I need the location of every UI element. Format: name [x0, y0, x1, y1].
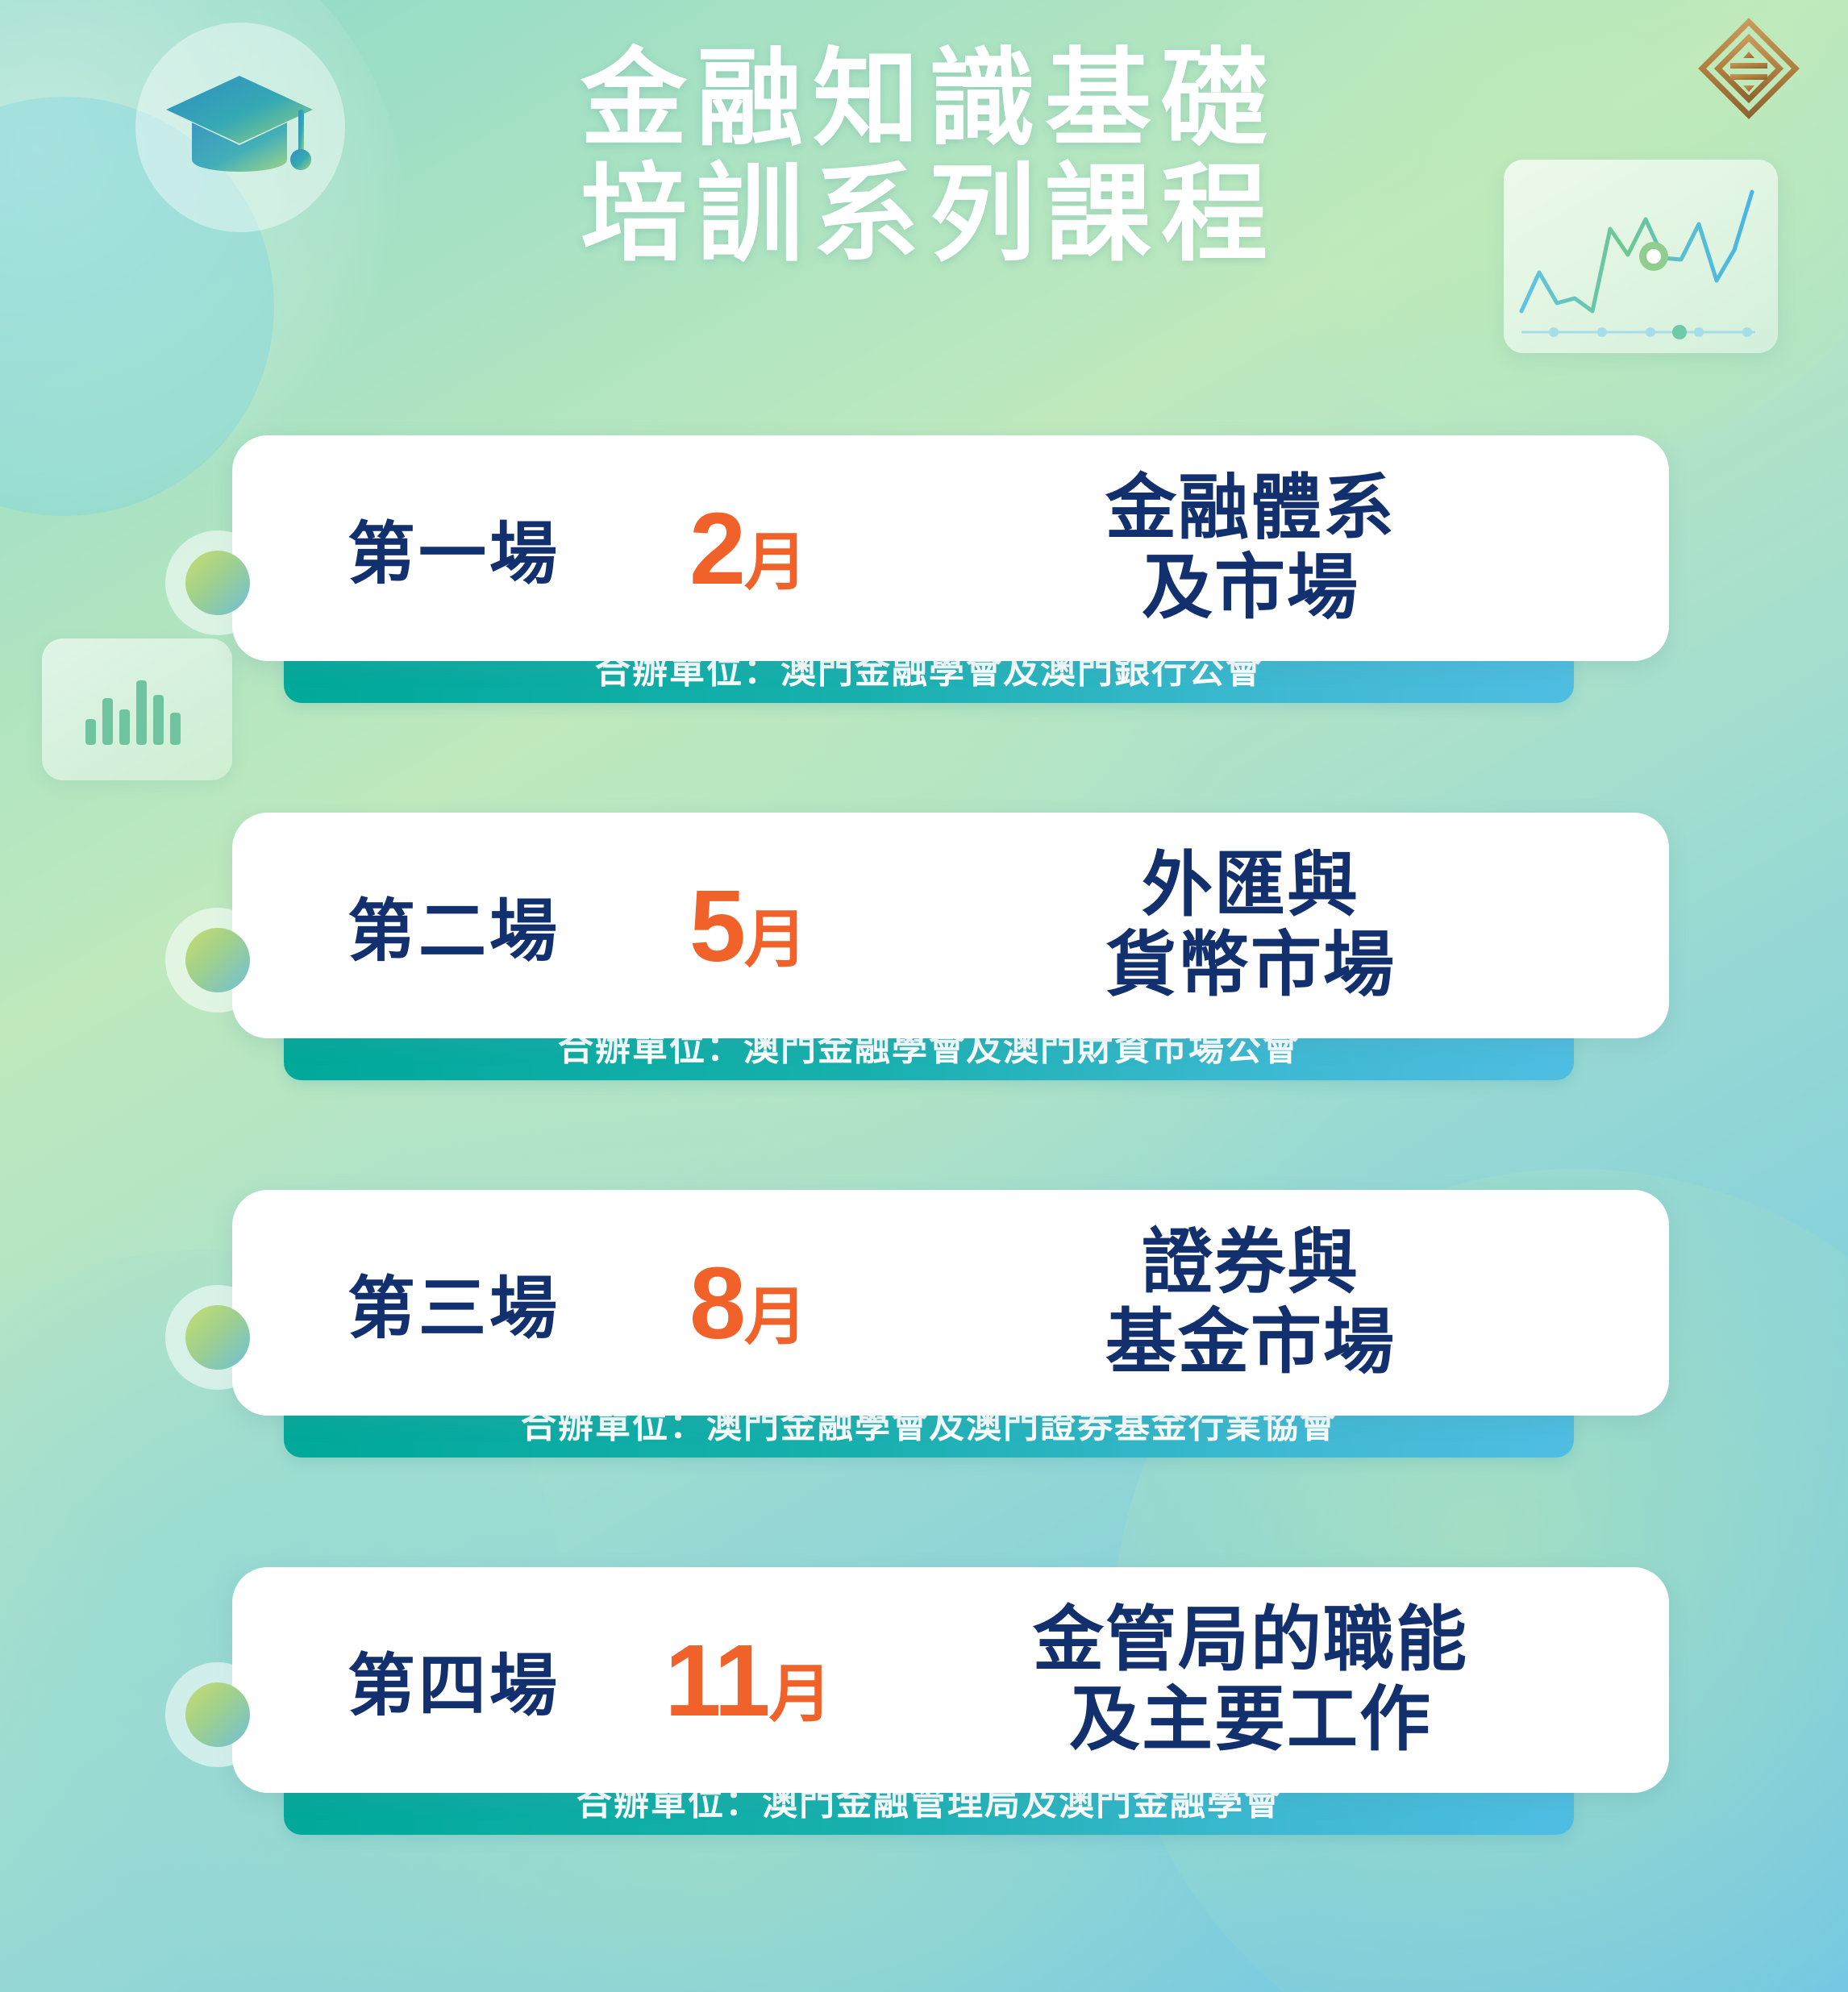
session-topic-line-1: 金管局的職能 — [877, 1600, 1624, 1680]
session-month-unit: 月 — [744, 904, 807, 975]
session-topic: 外匯與 貨幣市場 — [877, 846, 1669, 1004]
session-bullet-inner — [185, 928, 250, 992]
session-card[interactable]: 第三場 8月 證券與 基金市場 — [232, 1190, 1669, 1416]
session-month-unit: 月 — [744, 526, 807, 597]
session-bullet — [165, 530, 270, 635]
session-number: 第四場 — [232, 1632, 619, 1729]
session-topic-line-2: 基金市場 — [877, 1303, 1624, 1383]
session-bullet-inner — [185, 1682, 250, 1747]
page-title: 金融知識基礎 培訓系列課程 — [0, 42, 1848, 272]
session-month: 5月 — [619, 867, 877, 984]
session-month: 11月 — [619, 1622, 877, 1739]
session-bullet-inner — [185, 551, 250, 615]
session-month-unit: 月 — [744, 1281, 807, 1352]
session-topic-line-2: 及主要工作 — [877, 1680, 1624, 1760]
session-number: 第三場 — [232, 1254, 619, 1352]
session-bullet — [165, 1662, 270, 1767]
session-card[interactable]: 第二場 5月 外匯與 貨幣市場 — [232, 813, 1669, 1038]
session-row: 合辦單位：澳門金融學會及澳門財資市場公會 第二場 5月 外匯與 貨幣市場 — [0, 813, 1848, 1167]
session-list: 合辦單位：澳門金融學會及澳門銀行公會 第一場 2月 金融體系 及市場 合辦單位：… — [0, 435, 1848, 1944]
session-row: 合辦單位：澳門金融學會及澳門銀行公會 第一場 2月 金融體系 及市場 — [0, 435, 1848, 790]
session-month-number: 11 — [664, 1624, 768, 1737]
session-topic: 金管局的職能 及主要工作 — [877, 1600, 1669, 1759]
page-title-line-2: 培訓系列課程 — [0, 157, 1848, 272]
poster-root: 金融知識基礎 培訓系列課程 合辦單位：澳門金融學會及澳門銀行公會 第一場 2月 … — [0, 0, 1848, 1992]
session-topic: 金融體系 及市場 — [877, 468, 1669, 627]
session-topic-line-2: 及市場 — [877, 548, 1624, 628]
session-number: 第二場 — [232, 877, 619, 975]
session-card[interactable]: 第一場 2月 金融體系 及市場 — [232, 435, 1669, 661]
session-month-number: 8 — [689, 1246, 744, 1360]
session-number: 第一場 — [232, 500, 619, 597]
session-month-unit: 月 — [769, 1658, 832, 1729]
session-bullet-inner — [185, 1305, 250, 1370]
page-title-line-1: 金融知識基礎 — [0, 42, 1848, 157]
session-topic-line-1: 外匯與 — [877, 846, 1624, 925]
session-month-number: 5 — [689, 869, 744, 983]
session-topic-line-1: 金融體系 — [877, 468, 1624, 548]
session-card[interactable]: 第四場 11月 金管局的職能 及主要工作 — [232, 1567, 1669, 1793]
session-topic: 證券與 基金市場 — [877, 1223, 1669, 1382]
session-bullet — [165, 1285, 270, 1390]
session-row: 合辦單位：澳門金融管理局及澳門金融學會 第四場 11月 金管局的職能 及主要工作 — [0, 1567, 1848, 1922]
session-month: 2月 — [619, 490, 877, 607]
session-month: 8月 — [619, 1245, 877, 1362]
session-bullet — [165, 908, 270, 1013]
session-topic-line-2: 貨幣市場 — [877, 925, 1624, 1005]
session-row: 合辦單位：澳門金融學會及澳門證券基金行業協會 第三場 8月 證券與 基金市場 — [0, 1190, 1848, 1545]
session-month-number: 2 — [689, 492, 744, 605]
session-topic-line-1: 證券與 — [877, 1223, 1624, 1303]
